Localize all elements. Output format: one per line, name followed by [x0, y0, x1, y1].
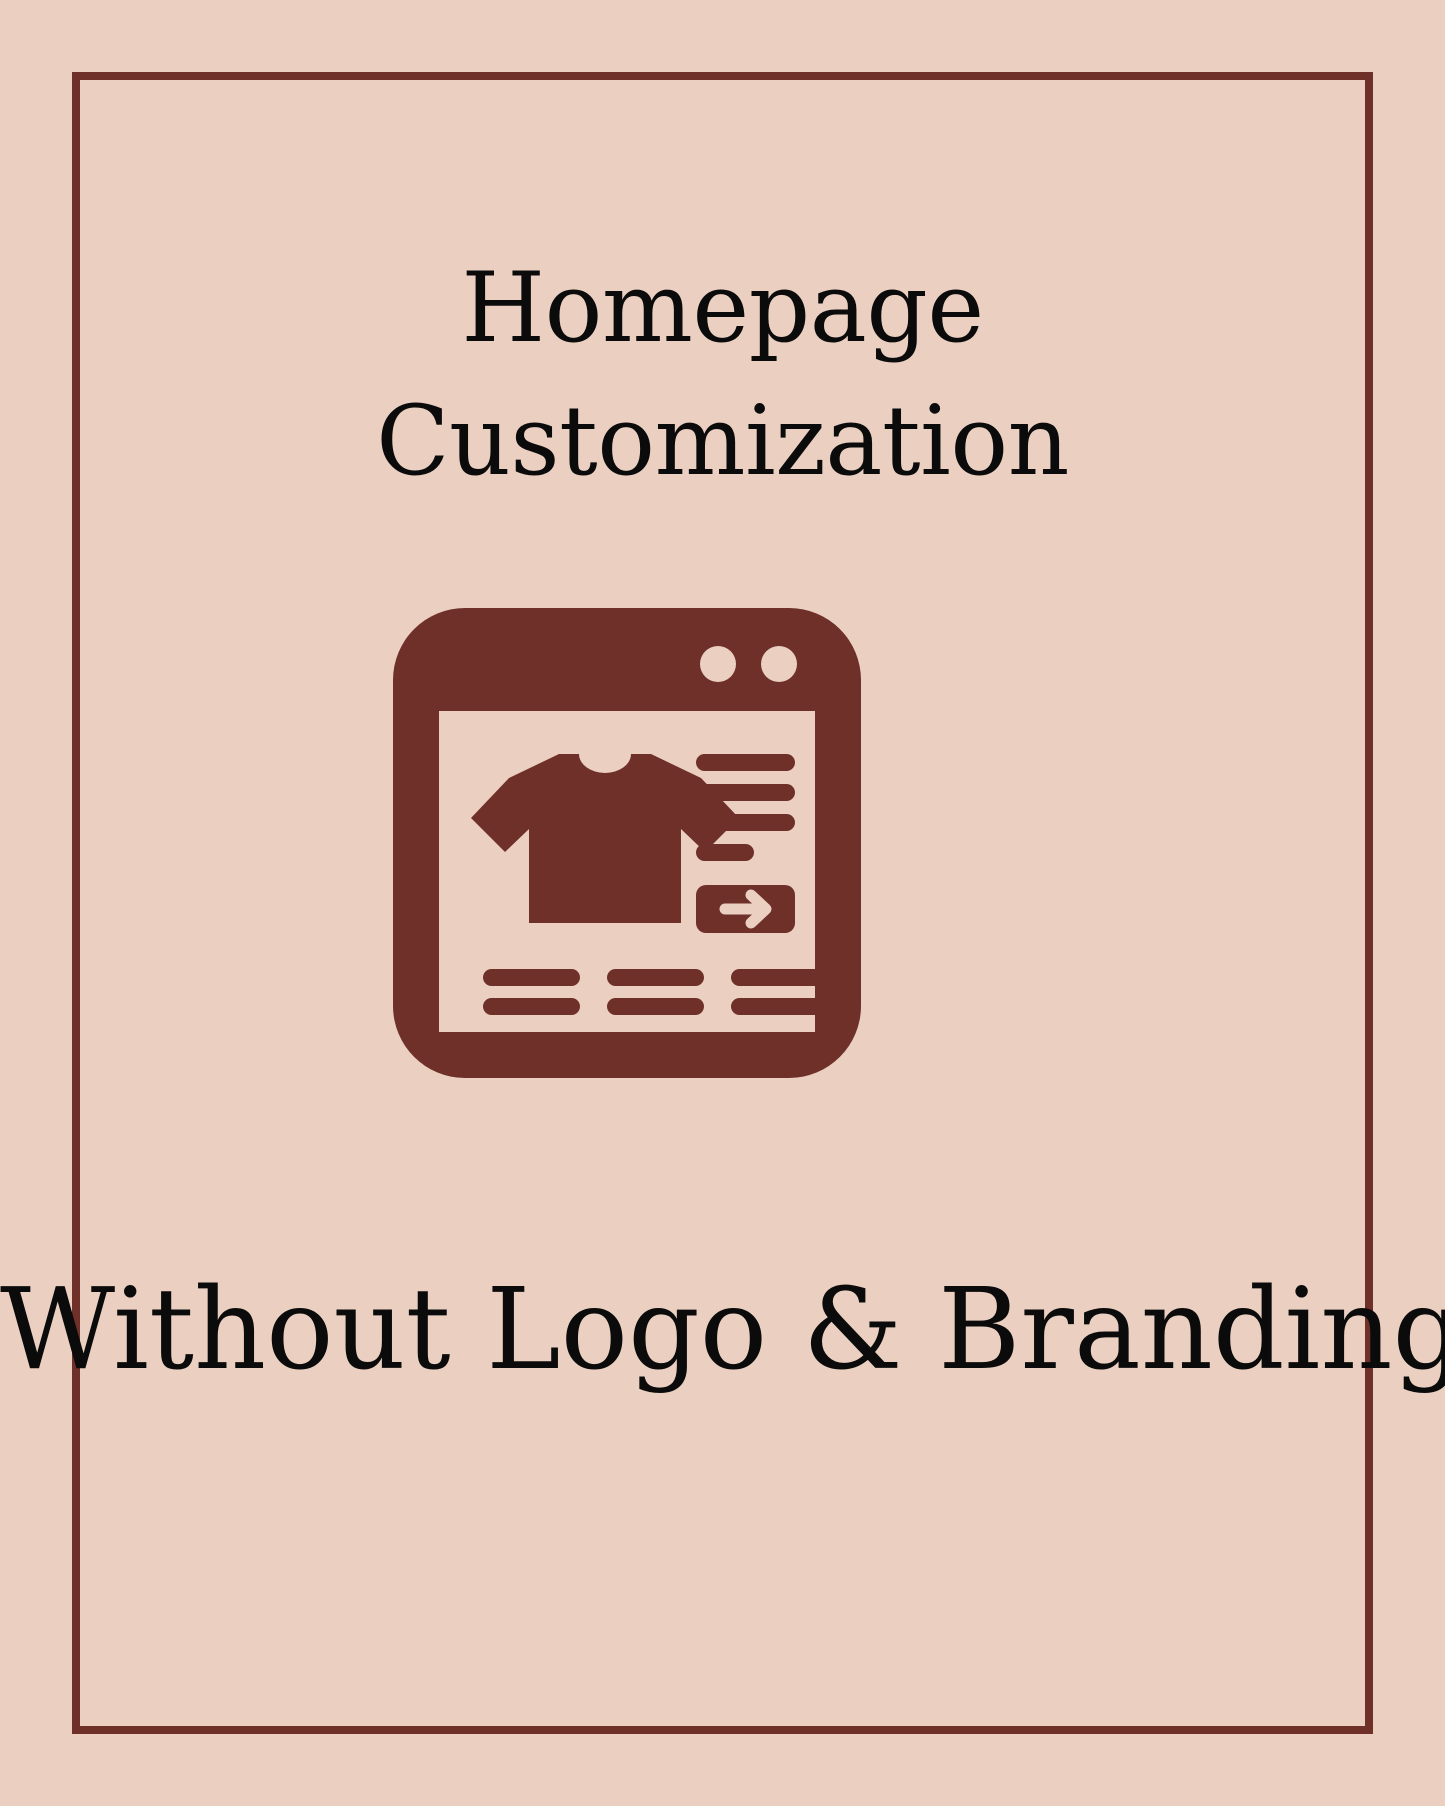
footer-line-1b: [483, 998, 580, 1015]
sidebar-line-3: [696, 814, 795, 831]
sidebar-line-2: [696, 784, 795, 801]
footer-line-3b: [731, 998, 828, 1015]
cta-arrow-button: [696, 885, 795, 933]
poster-canvas: Homepage Customization: [0, 0, 1445, 1806]
sidebar-line-1: [696, 754, 795, 771]
page-title-line-2: Customization: [0, 375, 1445, 507]
page-subtitle: Without Logo & Branding: [0, 1268, 1445, 1393]
sidebar-line-4: [696, 844, 754, 861]
footer-line-1a: [483, 969, 580, 986]
footer-line-2b: [607, 998, 704, 1015]
browser-storefront-icon: [393, 608, 861, 1078]
page-title: Homepage Customization: [0, 242, 1445, 507]
footer-line-3a: [731, 969, 828, 986]
page-title-line-1: Homepage: [0, 242, 1445, 374]
window-dot-2: [761, 646, 797, 682]
window-dot-1: [700, 646, 736, 682]
footer-line-2a: [607, 969, 704, 986]
